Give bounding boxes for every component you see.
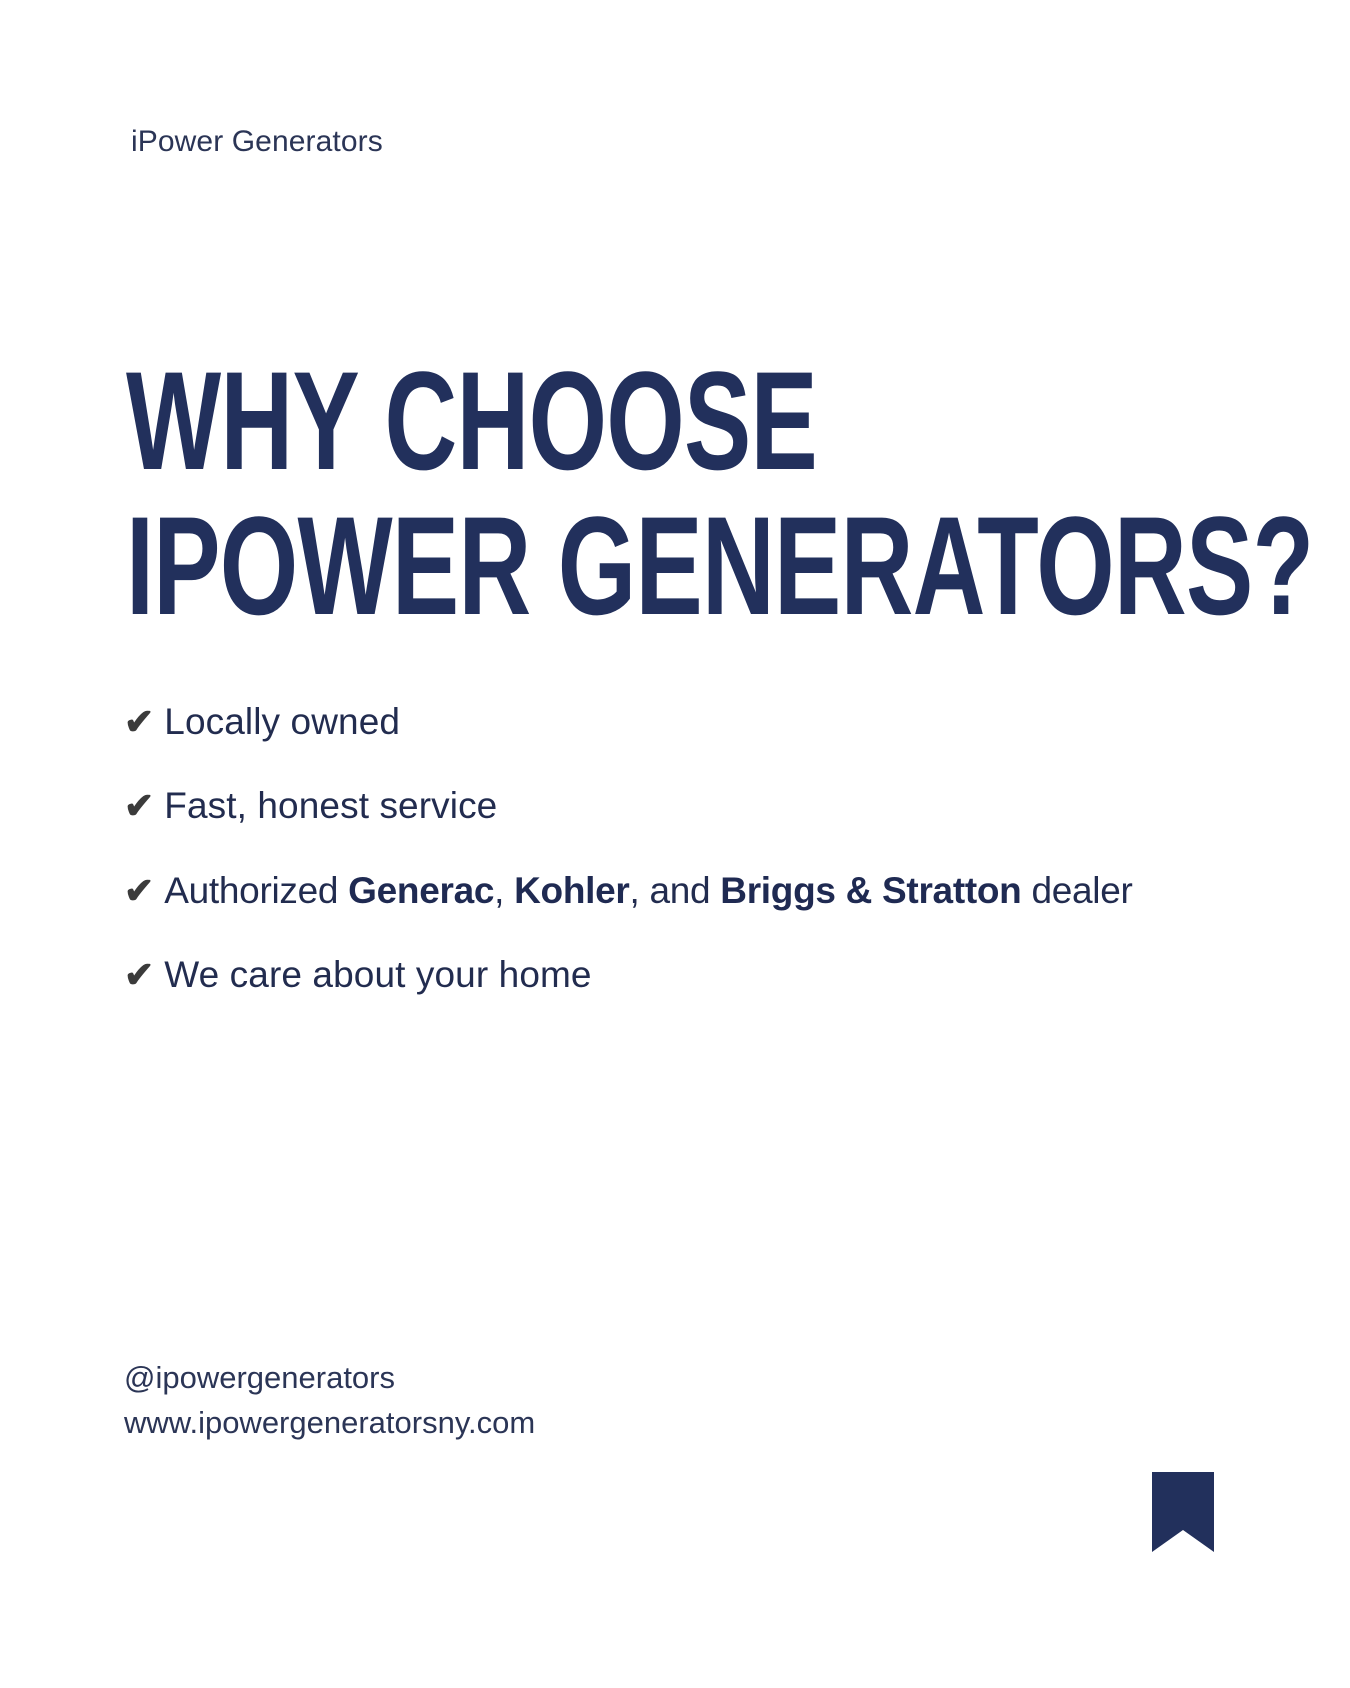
social-handle[interactable]: @ipowergenerators [124,1356,535,1401]
check-icon: ✔ [124,701,154,742]
poster-canvas: iPower Generators WHY CHOOSE IPOWER GENE… [0,0,1350,1688]
check-icon: ✔ [124,870,154,911]
headline-line-2: IPOWER GENERATORS? [126,497,932,634]
list-item-fast-honest-service: ✔Fast, honest service [124,784,1134,827]
benefits-list: ✔Locally owned ✔Fast, honest service ✔Au… [124,700,1134,996]
list-item-label: Locally owned [164,701,400,742]
check-icon: ✔ [124,785,154,826]
page-title: WHY CHOOSE IPOWER GENERATORS? [126,352,1246,634]
brand-name: iPower Generators [131,124,383,160]
headline-line-1: WHY CHOOSE [126,352,932,489]
list-item-label: Fast, honest service [164,785,497,826]
list-item-authorized-dealer: ✔Authorized Generac, Kohler, and Briggs … [124,869,1134,912]
list-item-locally-owned: ✔Locally owned [124,700,1134,743]
footer-contact: @ipowergenerators www.ipowergeneratorsny… [124,1356,535,1446]
bookmark-icon [1152,1472,1214,1552]
list-item-label: We care about your home [164,954,591,995]
check-icon: ✔ [124,954,154,995]
website-url[interactable]: www.ipowergeneratorsny.com [124,1401,535,1446]
list-item-label: Authorized Generac, Kohler, and Briggs &… [164,870,1132,911]
list-item-we-care-about-your-home: ✔We care about your home [124,953,1134,996]
